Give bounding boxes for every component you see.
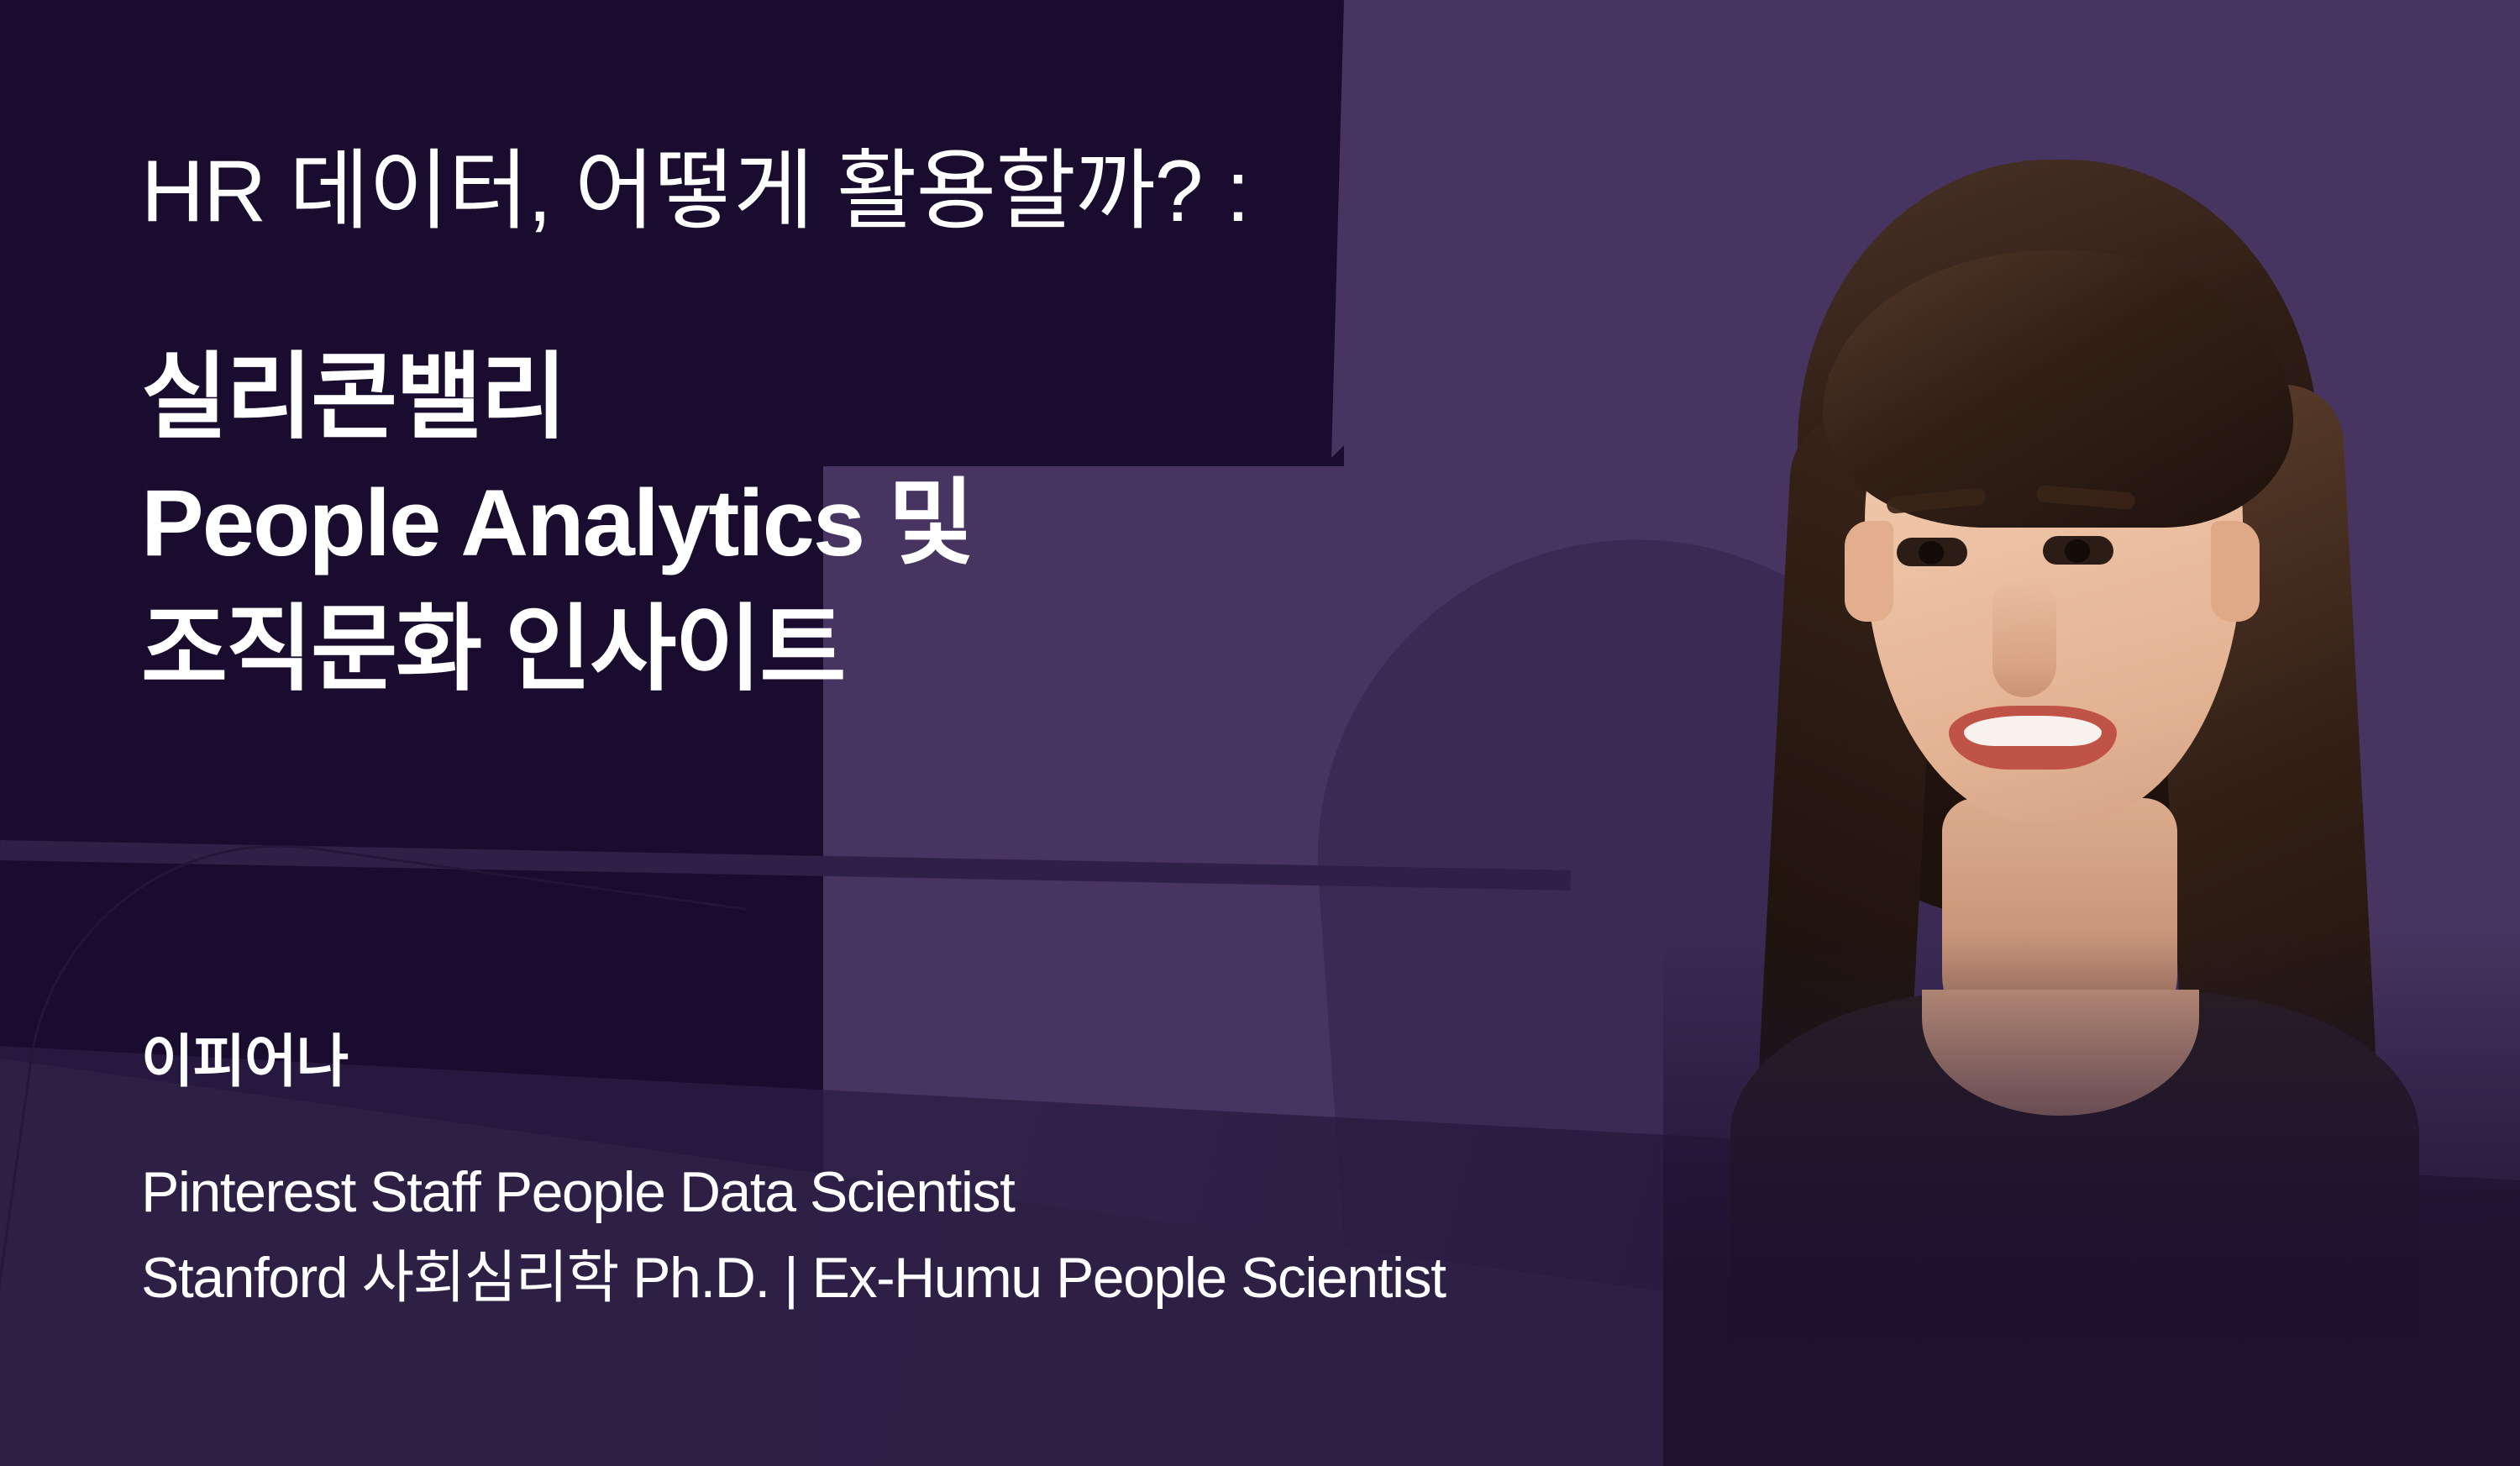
speaker-name: 이피어나 bbox=[141, 1015, 348, 1098]
headline-title: 실리콘밸리 People Analytics 및 조직문화 인사이트 bbox=[141, 334, 973, 712]
ear-left bbox=[1845, 521, 1893, 622]
portrait-bottom-fade bbox=[1663, 928, 2520, 1466]
eye-right bbox=[2043, 536, 2113, 565]
speaker-credentials: Pinterest Staff People Data Scientist St… bbox=[141, 1149, 1446, 1321]
pupil-left bbox=[1919, 541, 1944, 565]
mouth bbox=[1949, 706, 2117, 770]
portrait-container bbox=[1663, 0, 2520, 1466]
nose bbox=[1992, 580, 2056, 697]
webinar-promo-banner: HR 데이터, 어떻게 활용할까? : 실리콘밸리 People Analyti… bbox=[0, 0, 2520, 1466]
ear-right bbox=[2211, 521, 2260, 622]
eye-left bbox=[1897, 538, 1967, 566]
text-content: HR 데이터, 어떻게 활용할까? : 실리콘밸리 People Analyti… bbox=[0, 0, 1764, 1466]
pupil-right bbox=[2065, 539, 2090, 563]
kicker-question: HR 데이터, 어떻게 활용할까? : bbox=[141, 144, 1249, 239]
teeth bbox=[1964, 716, 2102, 746]
